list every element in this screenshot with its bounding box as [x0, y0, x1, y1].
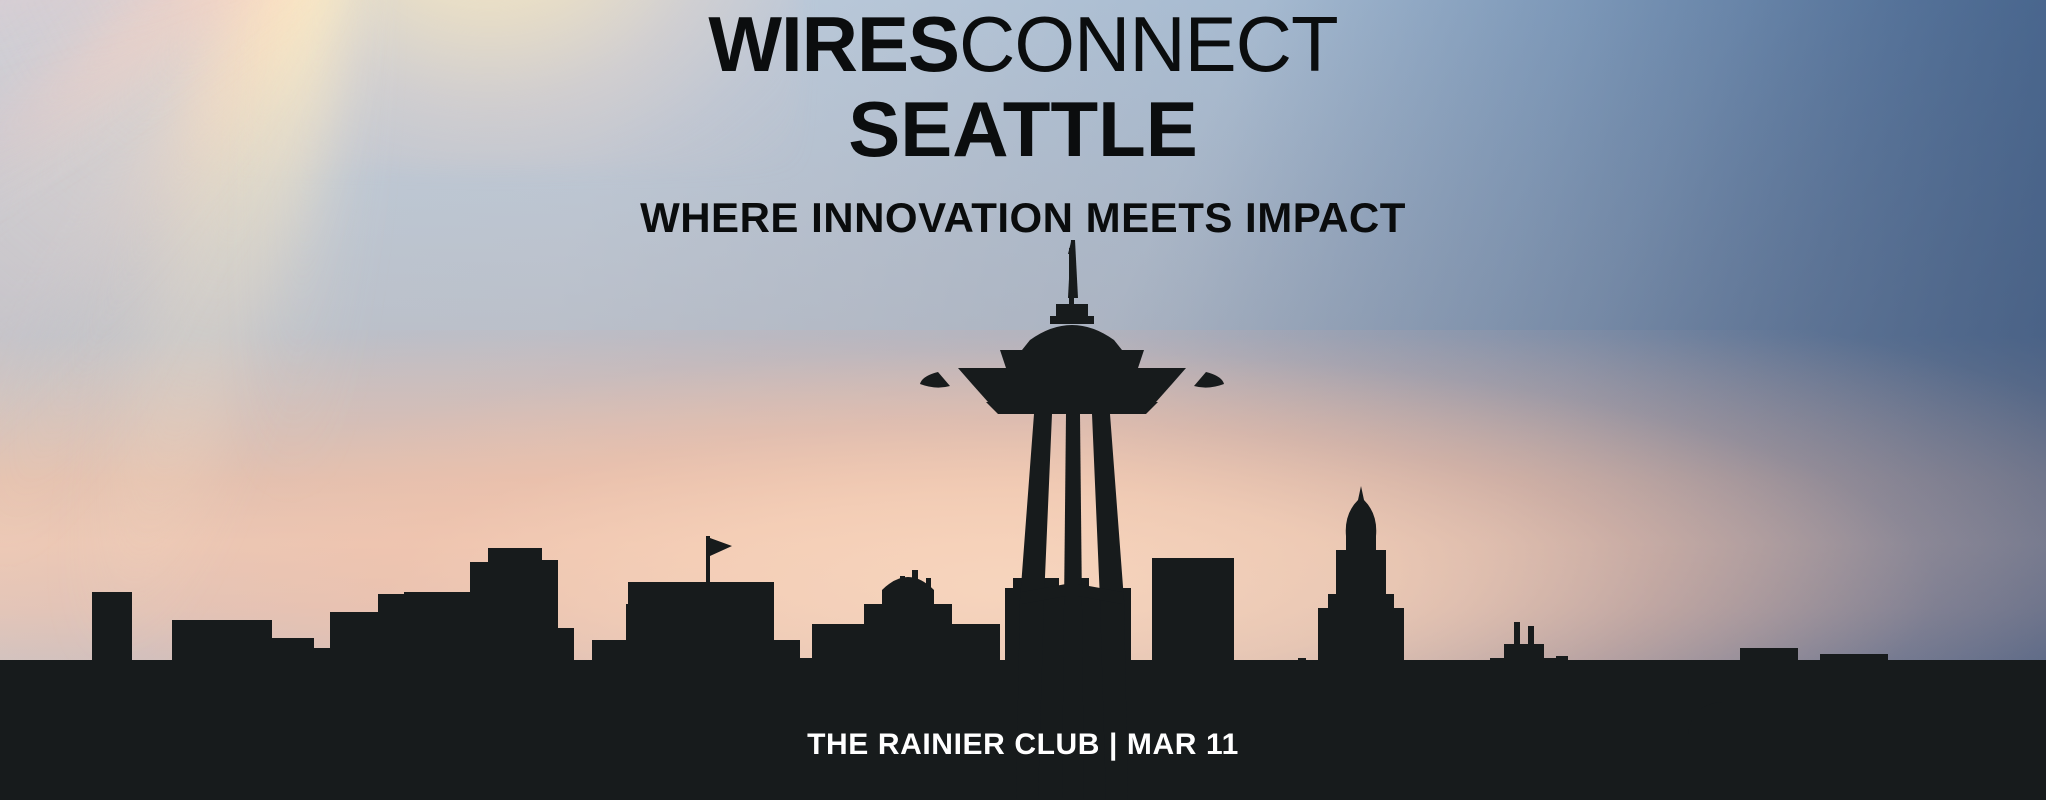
seattle-skyline-silhouette: [0, 240, 2046, 800]
title-block: WIRESCONNECT SEATTLE WHERE INNOVATION ME…: [0, 6, 2046, 242]
tagline: WHERE INNOVATION MEETS IMPACT: [0, 194, 2046, 242]
title-wires: WIRES: [708, 0, 959, 88]
footer-block: THE RAINIER CLUB | MAR 11: [0, 728, 2046, 762]
page-title: WIRESCONNECT: [0, 6, 2046, 82]
event-banner: WIRESCONNECT SEATTLE WHERE INNOVATION ME…: [0, 0, 2046, 800]
title-connect: CONNECT: [959, 0, 1338, 88]
title-city: SEATTLE: [0, 90, 2046, 168]
venue-date-text: THE RAINIER CLUB | MAR 11: [807, 728, 1239, 762]
